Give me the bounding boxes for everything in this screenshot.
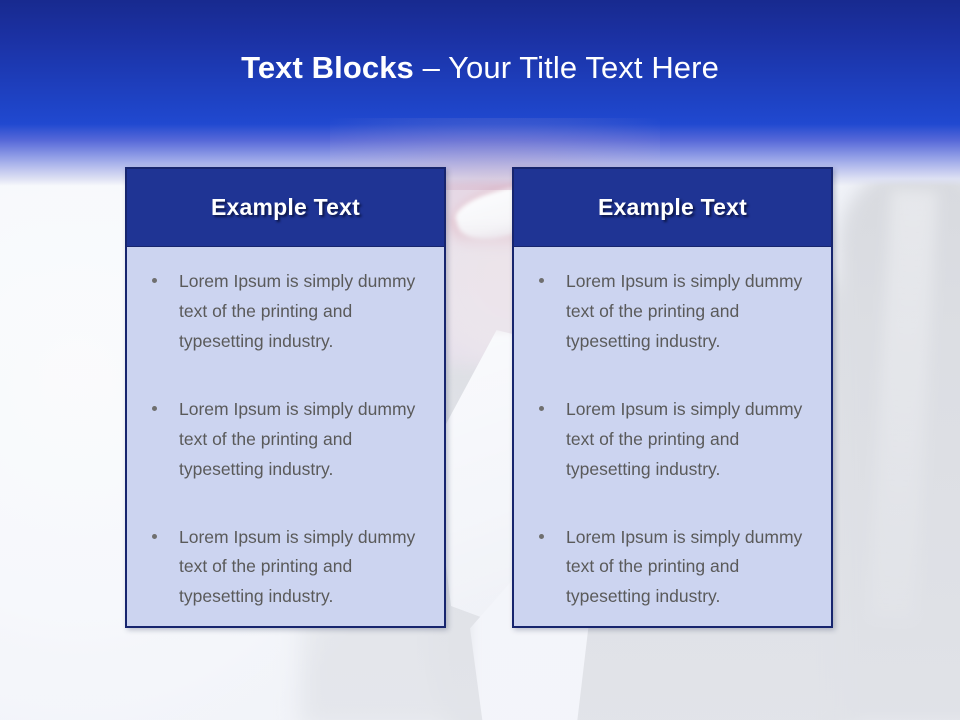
bullet-dot-icon: [539, 534, 544, 539]
bullet-dot-icon: [152, 406, 157, 411]
page-title-bold: Text Blocks: [241, 50, 423, 85]
bullet-dot-icon: [539, 406, 544, 411]
text-block-left-bullet-list: Lorem Ipsum is simply dummy text of the …: [139, 267, 428, 612]
text-block-left-header: Example Text: [127, 169, 444, 247]
list-item: Lorem Ipsum is simply dummy text of the …: [526, 395, 815, 485]
list-item-text: Lorem Ipsum is simply dummy text of the …: [566, 271, 802, 351]
text-block-right-header: Example Text: [514, 169, 831, 247]
list-item: Lorem Ipsum is simply dummy text of the …: [526, 267, 815, 357]
bullet-dot-icon: [152, 534, 157, 539]
page-title-light: – Your Title Text Here: [423, 50, 719, 85]
list-item: Lorem Ipsum is simply dummy text of the …: [139, 267, 428, 357]
list-item-text: Lorem Ipsum is simply dummy text of the …: [566, 527, 802, 607]
text-block-right[interactable]: Example Text Lorem Ipsum is simply dummy…: [512, 167, 833, 628]
list-item: Lorem Ipsum is simply dummy text of the …: [526, 523, 815, 613]
text-block-left[interactable]: Example Text Lorem Ipsum is simply dummy…: [125, 167, 446, 628]
bullet-dot-icon: [539, 278, 544, 283]
text-block-left-heading: Example Text: [211, 194, 360, 221]
text-block-right-heading: Example Text: [598, 194, 747, 221]
list-item: Lorem Ipsum is simply dummy text of the …: [139, 523, 428, 613]
slide-canvas: Text Blocks – Your Title Text Here Examp…: [0, 0, 960, 720]
page-title: Text Blocks – Your Title Text Here: [0, 52, 960, 83]
list-item-text: Lorem Ipsum is simply dummy text of the …: [566, 399, 802, 479]
list-item-text: Lorem Ipsum is simply dummy text of the …: [179, 399, 415, 479]
text-block-right-bullet-list: Lorem Ipsum is simply dummy text of the …: [526, 267, 815, 612]
text-block-left-body: Lorem Ipsum is simply dummy text of the …: [127, 247, 444, 626]
bullet-dot-icon: [152, 278, 157, 283]
list-item: Lorem Ipsum is simply dummy text of the …: [139, 395, 428, 485]
list-item-text: Lorem Ipsum is simply dummy text of the …: [179, 271, 415, 351]
text-block-right-body: Lorem Ipsum is simply dummy text of the …: [514, 247, 831, 626]
list-item-text: Lorem Ipsum is simply dummy text of the …: [179, 527, 415, 607]
